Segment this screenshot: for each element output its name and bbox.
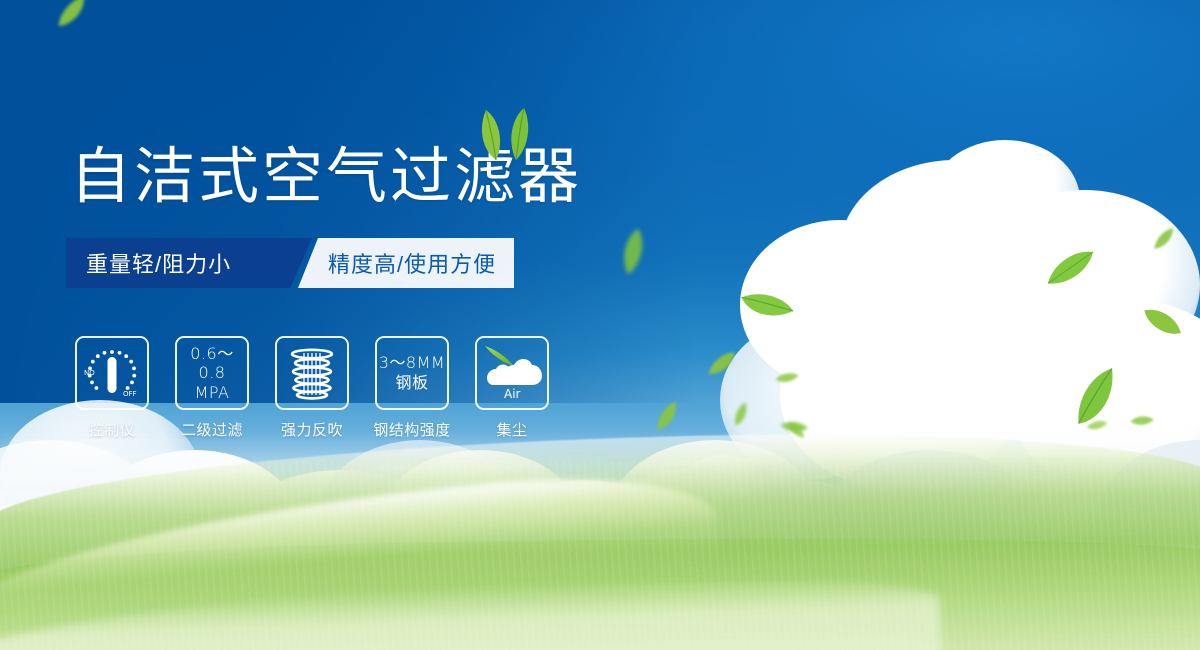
- feature-label: 钢结构强度: [373, 419, 451, 440]
- feature-label: 集尘: [496, 419, 527, 440]
- pressure-text-icon: 0.6～0.8 MPA: [175, 336, 249, 410]
- icon-text-line2: 钢板: [395, 373, 428, 393]
- feature-label: 强力反吹: [281, 419, 343, 440]
- gauge-dial-icon: NO OFF: [75, 336, 149, 410]
- steel-plate-text-icon: 3～8MM 钢板: [375, 336, 449, 410]
- product-banner: 自洁式空气过滤器 重量轻/阻力小 精度高/使用方便: [0, 0, 1200, 650]
- leaf-icon: [1086, 419, 1109, 432]
- filter-cartridge-icon: [275, 336, 349, 410]
- icon-text-line1: 3～8MM: [379, 353, 445, 373]
- subtitle-segment-right: 精度高/使用方便: [298, 238, 514, 288]
- gauge-label-off: OFF: [123, 390, 137, 398]
- feature-item[interactable]: 0.6～0.8 MPA 二级过滤: [175, 336, 249, 440]
- subtitle-bar: 重量轻/阻力小 精度高/使用方便: [66, 238, 464, 288]
- feature-label: 二级过滤: [181, 419, 243, 440]
- feature-label: 控制仪: [89, 419, 136, 440]
- feature-item[interactable]: Air 集尘: [475, 336, 549, 440]
- feature-list: NO OFF 控制仪 0.6～0.8 MPA 二级过滤: [75, 336, 549, 440]
- grass-texture: [0, 460, 1200, 650]
- sprout-leaves-icon: [470, 108, 540, 160]
- subtitle-segment-left: 重量轻/阻力小: [66, 238, 312, 288]
- air-cloud-icon: Air: [475, 336, 549, 410]
- feature-item[interactable]: 强力反吹: [275, 336, 349, 440]
- icon-text-line1: 0.6～0.8: [177, 344, 247, 383]
- gauge-label-no: NO: [84, 369, 95, 377]
- feature-item[interactable]: NO OFF 控制仪: [75, 336, 149, 440]
- air-label: Air: [504, 387, 521, 401]
- icon-text-line2: MPA: [195, 383, 230, 403]
- feature-item[interactable]: 3～8MM 钢板 钢结构强度: [375, 336, 449, 440]
